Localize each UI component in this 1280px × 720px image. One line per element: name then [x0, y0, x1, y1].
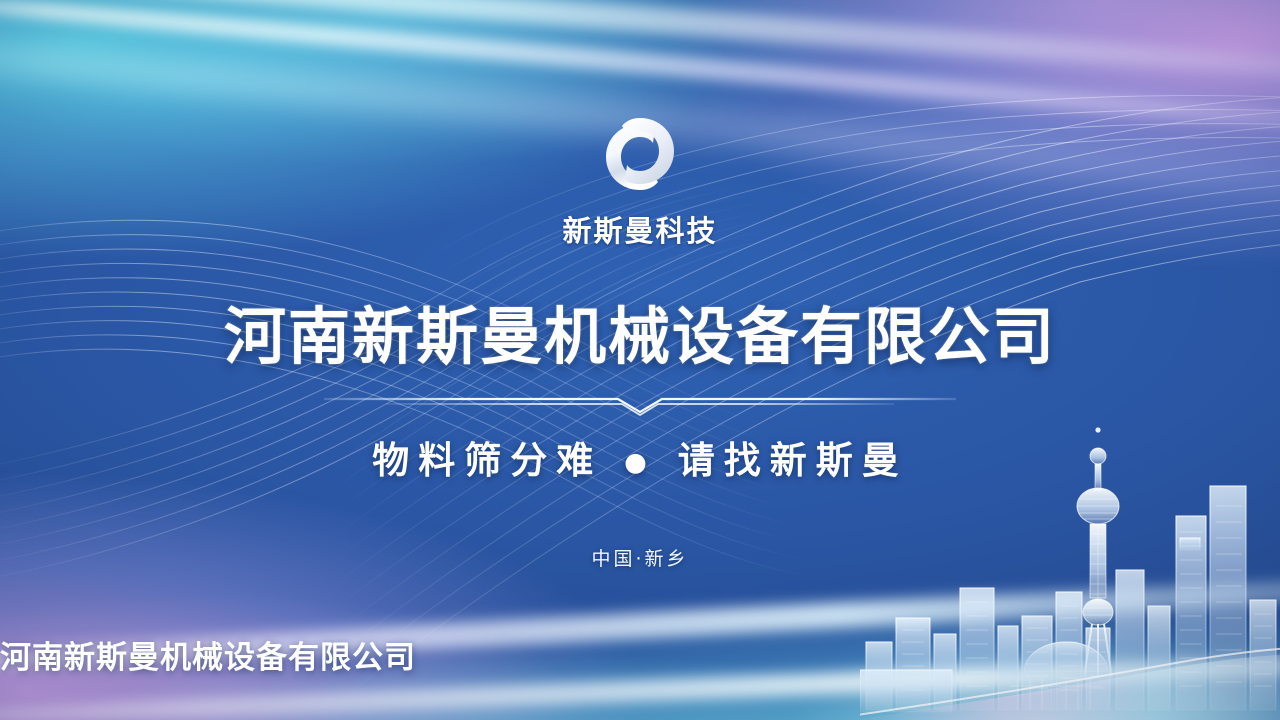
- tagline-separator: ●: [624, 448, 656, 478]
- presentation-slide: 新斯曼科技 河南新斯曼机械设备有限公司: [0, 0, 1280, 720]
- slide-content: 新斯曼科技 河南新斯曼机械设备有限公司: [0, 0, 1280, 720]
- page-title: 河南新斯曼机械设备有限公司: [224, 306, 1056, 368]
- bottom-caption: 河南新斯曼机械设备有限公司: [0, 632, 1280, 677]
- chevron-divider-ornament-icon: [322, 394, 958, 416]
- location-label: 中国·新乡: [591, 544, 688, 571]
- tagline-left: 物料筛分难: [372, 439, 602, 482]
- tagline: 物料筛分难 ● 请找新斯曼: [372, 430, 907, 484]
- brand-logo-block: 新斯曼科技: [562, 108, 717, 250]
- tagline-right: 请找新斯曼: [678, 439, 908, 482]
- interlocking-s-circle-logo-icon: [588, 108, 692, 200]
- brand-wordmark: 新斯曼科技: [562, 208, 717, 250]
